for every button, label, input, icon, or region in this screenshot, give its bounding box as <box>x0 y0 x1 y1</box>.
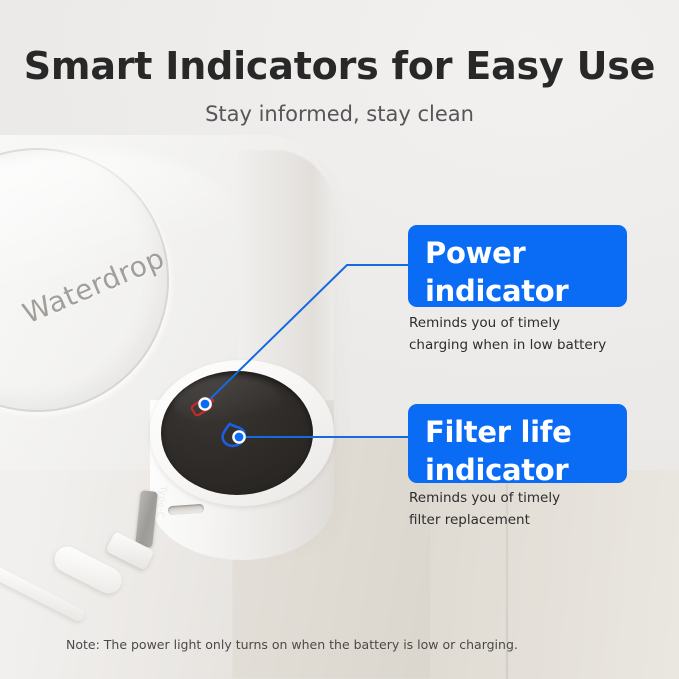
callout-power-title-line2: indicator <box>425 274 568 308</box>
callout-power-title-line1: Power <box>425 236 525 270</box>
callout-power-title-box[interactable]: Power indicator <box>408 225 627 307</box>
callout-power-description: Reminds you of timely charging when in l… <box>409 313 639 357</box>
callout-filter-desc-line2: filter replacement <box>409 512 530 528</box>
callout-filter-title-box[interactable]: Filter life indicator <box>408 404 627 483</box>
callout-power-desc-line1: Reminds you of timely <box>409 315 560 331</box>
page-subtitle: Stay informed, stay clean <box>0 102 679 126</box>
control-panel-gloss <box>172 376 282 426</box>
callout-filter-desc-line1: Reminds you of timely <box>409 490 560 506</box>
infographic-canvas: Waterdrop Type-C <box>0 0 679 679</box>
page-title: Smart Indicators for Easy Use <box>0 44 679 88</box>
callout-filter-title-line2: indicator <box>425 453 568 487</box>
callout-filter-title-line1: Filter life <box>425 415 572 449</box>
callout-power-desc-line2: charging when in low battery <box>409 337 606 353</box>
callout-filter-description: Reminds you of timely filter replacement <box>409 488 639 532</box>
footer-note: Note: The power light only turns on when… <box>66 637 518 652</box>
